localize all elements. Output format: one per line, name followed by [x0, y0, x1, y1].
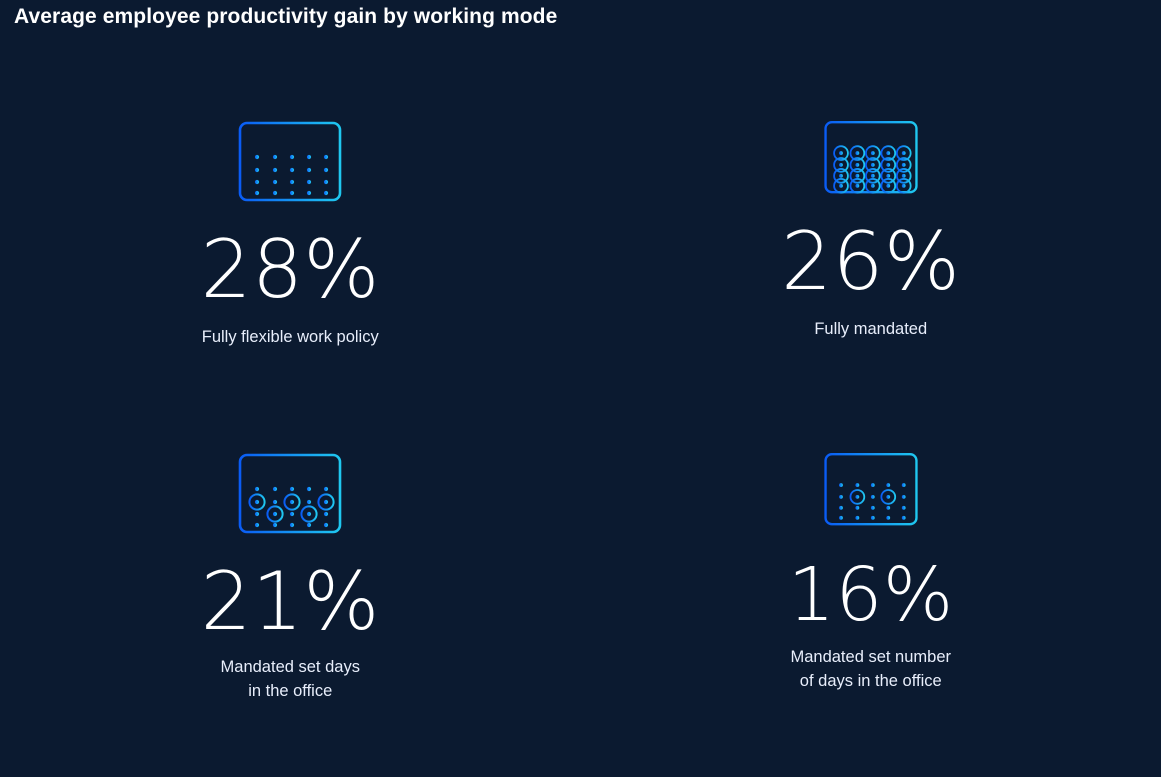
stat-value: 26% — [781, 222, 960, 302]
calendar-two-days-icon — [821, 442, 921, 530]
stats-grid: 28% Fully flexible work policy — [0, 86, 1161, 758]
calendar-no-days-icon — [235, 110, 345, 206]
stat-label: Mandated set days in the office — [221, 656, 360, 704]
page-title: Average employee productivity gain by wo… — [14, 5, 557, 29]
stat-label: Mandated set number of days in the offic… — [790, 646, 951, 694]
stat-value: 16% — [788, 558, 954, 632]
stat-card-fully-mandated: 26% Fully mandated — [581, 86, 1161, 422]
stat-label: Fully flexible work policy — [202, 326, 379, 350]
stat-value: 21% — [201, 562, 380, 642]
stat-value: 28% — [201, 230, 380, 310]
stat-card-mandated-set-days: 21% Mandated set days in the office — [0, 422, 581, 758]
infographic-page: Average employee productivity gain by wo… — [0, 0, 1161, 777]
stat-label: Fully mandated — [814, 318, 927, 342]
stat-card-fully-flexible: 28% Fully flexible work policy — [0, 86, 581, 422]
stat-card-mandated-set-number: 16% Mandated set number of days in the o… — [581, 422, 1161, 758]
calendar-all-days-icon — [821, 110, 921, 198]
calendar-scattered-days-icon — [235, 442, 345, 538]
